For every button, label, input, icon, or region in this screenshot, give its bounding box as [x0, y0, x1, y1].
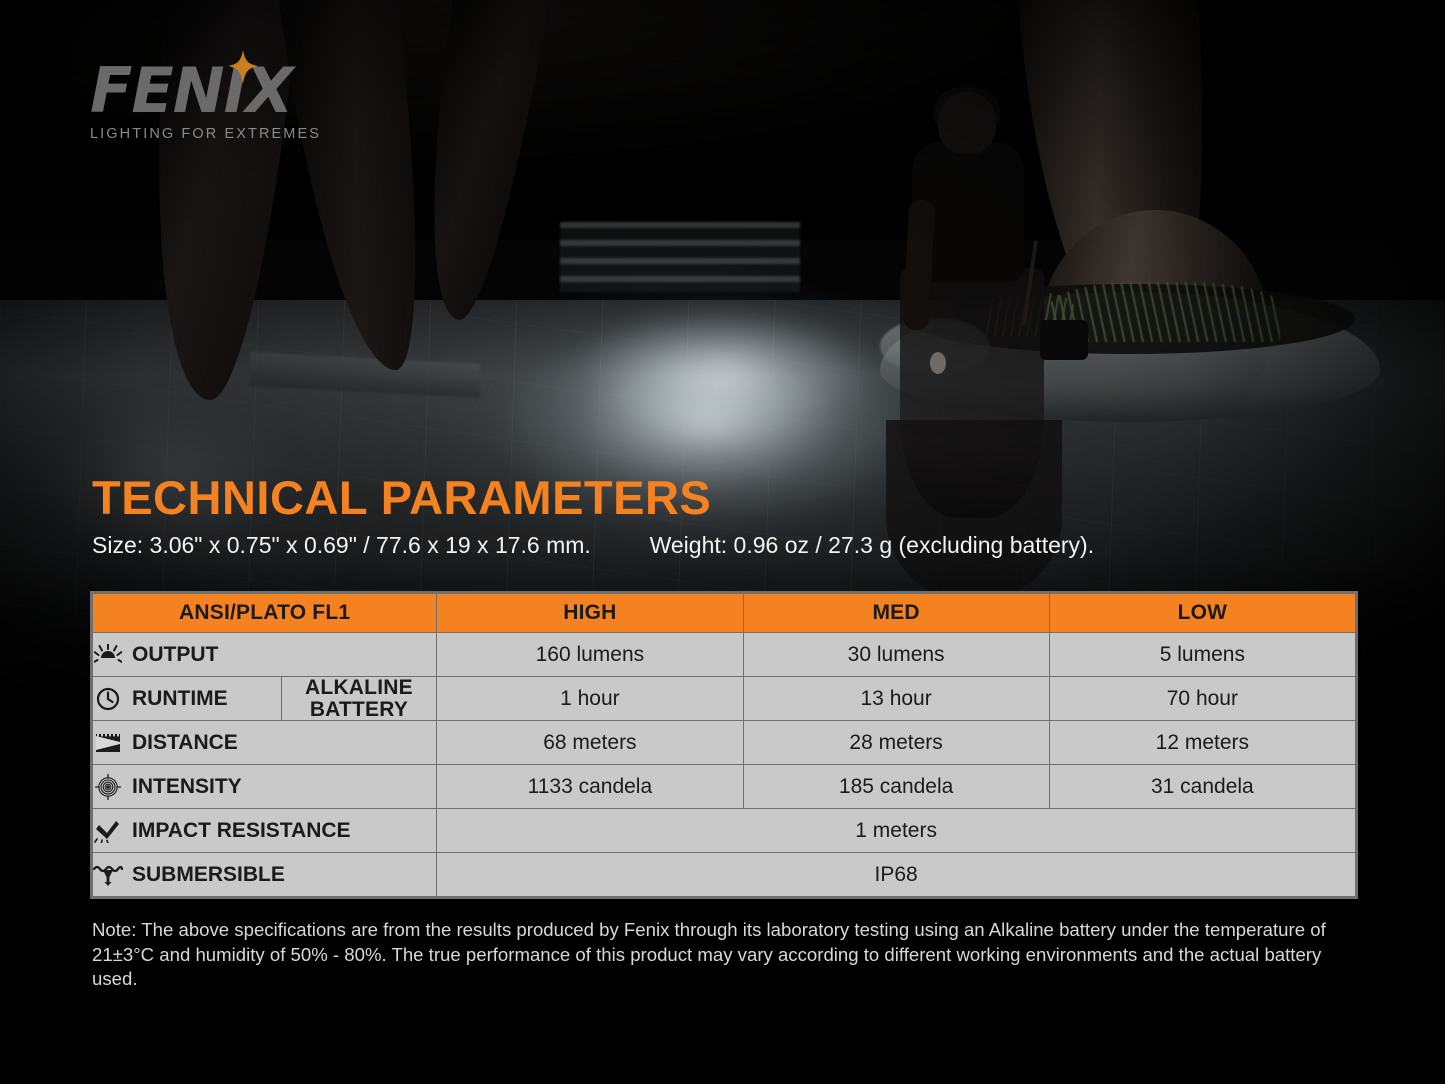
row-label-text: SUBMERSIBLE	[132, 863, 285, 887]
header-mode-high: HIGH	[437, 594, 743, 633]
cell-intensity-med: 185 candela	[743, 765, 1049, 809]
spec-table: ANSI/PLATO FL1 HIGH MED LOW	[92, 593, 1356, 897]
cell-output-med: 30 lumens	[743, 633, 1049, 677]
sunburst-icon	[93, 642, 123, 668]
table-row: INTENSITY 1133 candela 185 candela 31 ca…	[93, 765, 1356, 809]
row-label-text: OUTPUT	[132, 643, 218, 667]
footnote: Note: The above specifications are from …	[92, 918, 1354, 992]
cell-intensity-low: 31 candela	[1049, 765, 1355, 809]
row-label-intensity: INTENSITY	[93, 765, 437, 809]
wave-icon	[93, 862, 123, 888]
header-standard: ANSI/PLATO FL1	[93, 594, 437, 633]
runtime-label-cell: RUNTIME	[93, 677, 281, 720]
beam-hotspot	[560, 300, 890, 450]
person-head	[938, 92, 996, 154]
table-row: RUNTIME ALKALINE BATTERY 1 hour 13 hour …	[93, 677, 1356, 721]
cell-runtime-high: 1 hour	[437, 677, 743, 721]
row-label-text: DISTANCE	[132, 731, 238, 755]
header-mode-med: MED	[743, 594, 1049, 633]
header-mode-low: LOW	[1049, 594, 1355, 633]
person-hand	[930, 352, 946, 374]
cell-output-high: 160 lumens	[437, 633, 743, 677]
table-row: DISTANCE 68 meters 28 meters 12 meters	[93, 721, 1356, 765]
table-row: SUBMERSIBLE IP68	[93, 853, 1356, 897]
handbag	[1040, 320, 1088, 360]
battery-type-line2: BATTERY	[282, 699, 437, 721]
beam-icon	[93, 730, 123, 756]
row-label-distance: DISTANCE	[93, 721, 437, 765]
battery-type-line1: ALKALINE	[282, 677, 437, 699]
impact-icon	[93, 818, 123, 844]
table-row: IMPACT RESISTANCE 1 meters	[93, 809, 1356, 853]
cell-impact-all: 1 meters	[437, 809, 1356, 853]
cell-distance-low: 12 meters	[1049, 721, 1355, 765]
table-header-row: ANSI/PLATO FL1 HIGH MED LOW	[93, 594, 1356, 633]
cell-submersible-all: IP68	[437, 853, 1356, 897]
cell-runtime-low: 70 hour	[1049, 677, 1355, 721]
row-label-impact: IMPACT RESISTANCE	[93, 809, 437, 853]
page-title: TECHNICAL PARAMETERS	[92, 470, 711, 525]
row-label-text: IMPACT RESISTANCE	[132, 819, 351, 843]
cell-distance-high: 68 meters	[437, 721, 743, 765]
battery-type-cell: ALKALINE BATTERY	[281, 677, 436, 720]
row-label-text: INTENSITY	[132, 775, 242, 799]
cell-runtime-med: 13 hour	[743, 677, 1049, 721]
row-label-runtime: RUNTIME ALKALINE BATTERY	[93, 677, 437, 721]
weight-text: Weight: 0.96 oz / 27.3 g (excluding batt…	[650, 532, 1095, 558]
row-label-submersible: SUBMERSIBLE	[93, 853, 437, 897]
stone-steps	[560, 222, 800, 292]
size-text: Size: 3.06" x 0.75" x 0.69" / 77.6 x 19 …	[92, 532, 591, 558]
row-label-text: RUNTIME	[132, 687, 228, 711]
target-icon	[93, 774, 123, 800]
table-row: OUTPUT 160 lumens 30 lumens 5 lumens	[93, 633, 1356, 677]
star-icon	[228, 50, 258, 84]
cell-distance-med: 28 meters	[743, 721, 1049, 765]
fenix-logo: FENIX LIGHTING FOR EXTREMES	[90, 62, 390, 142]
clock-icon	[93, 686, 123, 712]
brand-tagline: LIGHTING FOR EXTREMES	[90, 126, 390, 142]
size-weight-line: Size: 3.06" x 0.75" x 0.69" / 77.6 x 19 …	[92, 532, 1094, 559]
cell-intensity-high: 1133 candela	[437, 765, 743, 809]
cell-output-low: 5 lumens	[1049, 633, 1355, 677]
row-label-output: OUTPUT	[93, 633, 437, 677]
